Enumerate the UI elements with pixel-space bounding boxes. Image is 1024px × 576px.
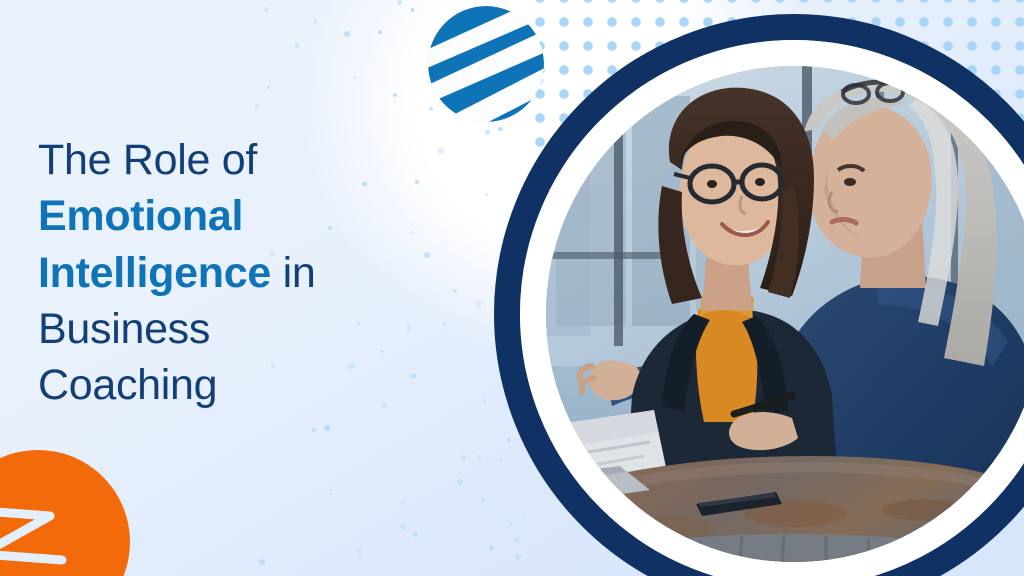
scatter-dot xyxy=(522,517,526,521)
scatter-dot xyxy=(485,193,489,197)
scatter-dot xyxy=(400,524,406,530)
scatter-dot xyxy=(295,43,300,48)
page-title: The Role of Emotional Intelligence in Bu… xyxy=(38,132,408,414)
headline-line-5: Coaching xyxy=(38,357,408,413)
scatter-dot xyxy=(457,479,463,485)
scatter-dot xyxy=(499,458,503,462)
scatter-dot xyxy=(312,428,316,432)
headline-line-1: The Role of xyxy=(38,132,408,188)
scatter-dot xyxy=(264,7,269,12)
scatter-dot xyxy=(411,374,415,378)
scatter-dot xyxy=(357,549,362,554)
scatter-dot xyxy=(443,321,447,325)
orange-swirl-badge xyxy=(0,450,130,576)
scatter-dot xyxy=(378,30,382,34)
headline-line-3: Intelligence in xyxy=(38,245,408,301)
scatter-dot xyxy=(400,501,404,505)
scatter-dot xyxy=(509,522,512,525)
scatter-dot xyxy=(507,438,511,442)
scatter-dot xyxy=(259,559,266,566)
scatter-dot xyxy=(477,455,482,460)
two-women-business-coaching-photo xyxy=(546,66,1024,562)
scatter-dot xyxy=(424,252,430,258)
headline-line-4: Business xyxy=(38,301,408,357)
scatter-dot xyxy=(329,489,333,493)
headline-accent-intelligence: Intelligence xyxy=(38,249,271,297)
scatter-dot xyxy=(489,545,494,550)
scatter-dot xyxy=(397,0,402,5)
headline-plain-in: in xyxy=(271,249,316,297)
scatter-dot xyxy=(411,8,414,11)
scatter-dot xyxy=(255,104,259,108)
blog-banner: The Role of Emotional Intelligence in Bu… xyxy=(0,0,1024,576)
scatter-dot xyxy=(453,289,457,293)
scatter-dot xyxy=(481,499,485,503)
scatter-dot xyxy=(344,31,350,37)
striped-globe-logo xyxy=(424,4,548,132)
scatter-dot xyxy=(483,399,487,403)
scatter-dot xyxy=(461,455,466,460)
scatter-dot xyxy=(324,425,330,431)
scatter-dot xyxy=(411,231,415,235)
striped-globe-logo-glyph xyxy=(424,4,548,132)
headline-line-2: Emotional xyxy=(38,188,408,244)
photo-circle xyxy=(546,66,1024,562)
orange-swirl-badge-glyph xyxy=(0,450,130,576)
scatter-dot xyxy=(415,180,419,184)
scatter-dot xyxy=(393,93,397,97)
scatter-dot xyxy=(475,301,482,308)
scatter-dot xyxy=(353,76,356,79)
scatter-dot xyxy=(514,537,520,543)
scatter-dot xyxy=(313,19,317,23)
scatter-dot xyxy=(515,554,521,560)
scatter-dot xyxy=(438,148,444,154)
scatter-dot xyxy=(267,86,270,89)
scatter-dot xyxy=(413,532,418,537)
